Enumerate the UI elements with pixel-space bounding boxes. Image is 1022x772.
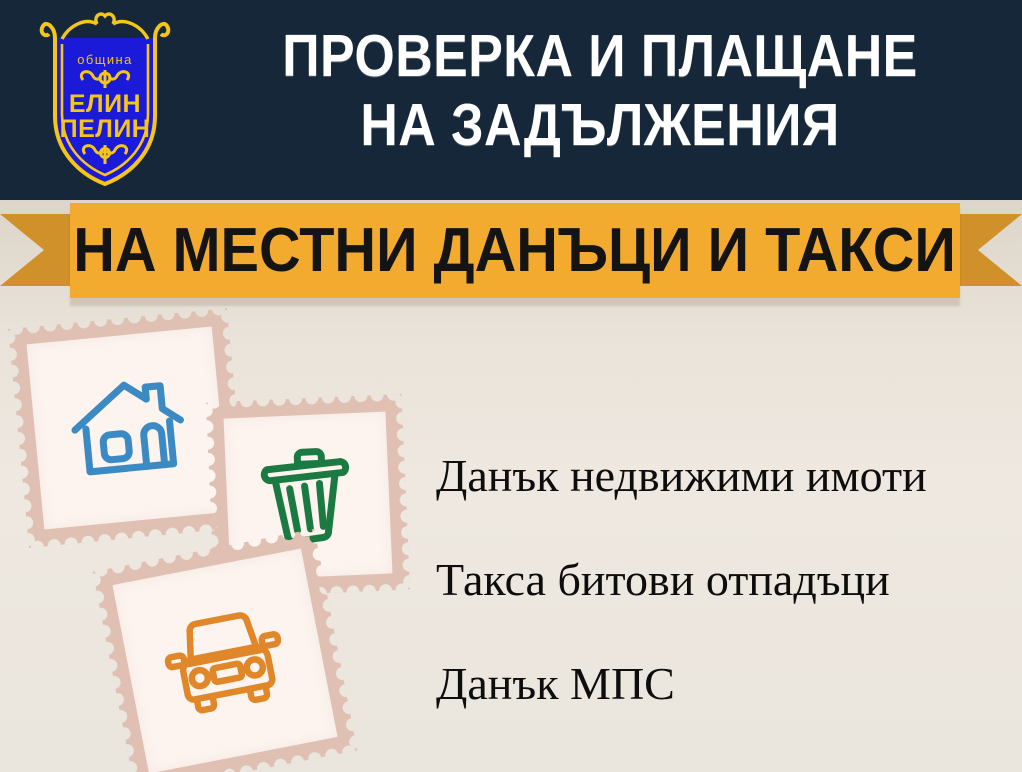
ribbon-banner: НА МЕСТНИ ДАНЪЦИ И ТАКСИ [70,203,960,298]
page-title-line-1: ПРОВЕРКА И ПЛАЩАНЕ [239,22,961,91]
page-title-line-2: НА ЗАДЪЛЖЕНИЯ [239,91,961,160]
arrow-bullet-icon [398,673,418,695]
stamp-card-car [93,529,358,772]
logo-text-pelin: ПЕЛИН [60,115,151,143]
subtitle-ribbon: НА МЕСТНИ ДАНЪЦИ И ТАКСИ [0,200,1022,300]
logo-text-elin: ЕЛИН [69,90,141,118]
ribbon-label: НА МЕСТНИ ДАНЪЦИ И ТАКСИ [74,218,957,284]
stamp-card-house-inner [27,327,230,530]
list-item-label: Данък недвижими имоти [436,451,927,501]
poster-header: община ЕЛИН ПЕЛИН ПРОВЕРКА И ПЛАЩАНЕ НА … [0,0,1022,200]
poster-canvas: Данък недвижими имоти Такса битови отпад… [0,0,1022,772]
house-icon [64,368,192,489]
arrow-bullet-icon [398,569,418,591]
car-front-icon [156,600,295,721]
list-item-label: Данък МПС [436,659,675,709]
coat-of-arms-shield: община ЕЛИН ПЕЛИН [35,8,175,190]
logo-text-obshtina: община [77,52,132,67]
stamp-card-car-inner [112,548,337,772]
arrow-bullet-icon [398,465,418,487]
tax-type-list: Данък недвижими имоти Такса битови отпад… [398,424,1008,736]
list-item: Такса битови отпадъци [398,528,1008,632]
header-title-block: ПРОВЕРКА И ПЛАЩАНЕ НА ЗАДЪЛЖЕНИЯ [190,22,1010,160]
list-item: Данък МПС [398,632,1008,736]
list-item-label: Такса битови отпадъци [436,555,890,605]
list-item: Данък недвижими имоти [398,424,1008,528]
